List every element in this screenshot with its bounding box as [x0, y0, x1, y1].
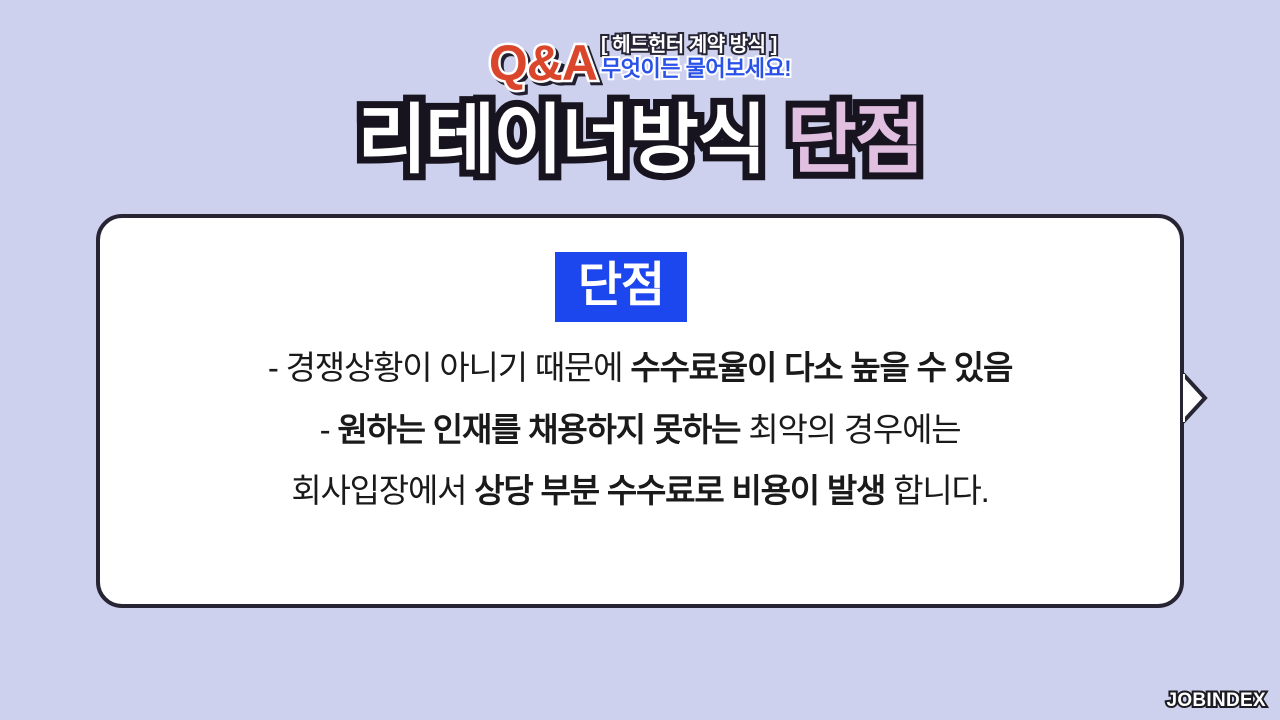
eyebrow-header: Q&A [ 헤드헌터 계약 방식 ] 무엇이든 물어보세요!	[0, 24, 1280, 90]
page-title-highlight: 단점	[787, 103, 923, 179]
line3-segment-2: 상당 부분 수수료로 비용이 발생	[474, 472, 885, 509]
line2-segment-2: 원하는 인재를 채용하지 못하는	[337, 411, 740, 448]
card-body-line-2: - 원하는 인재를 채용하지 못하는 최악의 경우에는	[320, 408, 961, 452]
status-badge: 단점	[555, 252, 687, 322]
line3-segment-1: 회사입장에서	[291, 472, 474, 509]
speech-bubble-tail-icon	[1183, 372, 1213, 424]
slide-canvas: Q&A [ 헤드헌터 계약 방식 ] 무엇이든 물어보세요! 리테이너방식 단점…	[0, 0, 1280, 720]
eyebrow-bracket-label: [ 헤드헌터 계약 방식 ]	[601, 34, 791, 56]
page-title-primary: 리테이너방식	[357, 103, 765, 179]
card-body-line-1: - 경쟁상황이 아니기 때문에 수수료율이 다소 높을 수 있음	[268, 346, 1012, 390]
card-body-line-3: 회사입장에서 상당 부분 수수료로 비용이 발생 합니다.	[291, 469, 988, 513]
qa-mark-text: Q&A	[489, 38, 597, 88]
eyebrow-text-stack: [ 헤드헌터 계약 방식 ] 무엇이든 물어보세요!	[601, 34, 791, 82]
eyebrow-tagline: 무엇이든 물어보세요!	[601, 57, 791, 82]
status-badge-label: 단점	[578, 262, 664, 310]
line1-segment-2: 수수료율이 다소 높을 수 있음	[630, 349, 1012, 386]
line2-segment-1: -	[320, 411, 338, 448]
line3-segment-3: 합니다.	[893, 472, 988, 509]
page-title: 리테이너방식 단점	[0, 92, 1280, 190]
line2-segment-3: 최악의 경우에는	[748, 411, 960, 448]
brand-logo: JOBINDEX	[1166, 690, 1266, 712]
card-body: - 경쟁상황이 아니기 때문에 수수료율이 다소 높을 수 있음 - 원하는 인…	[96, 346, 1184, 513]
line1-segment-1: - 경쟁상황이 아니기 때문에	[268, 349, 630, 386]
